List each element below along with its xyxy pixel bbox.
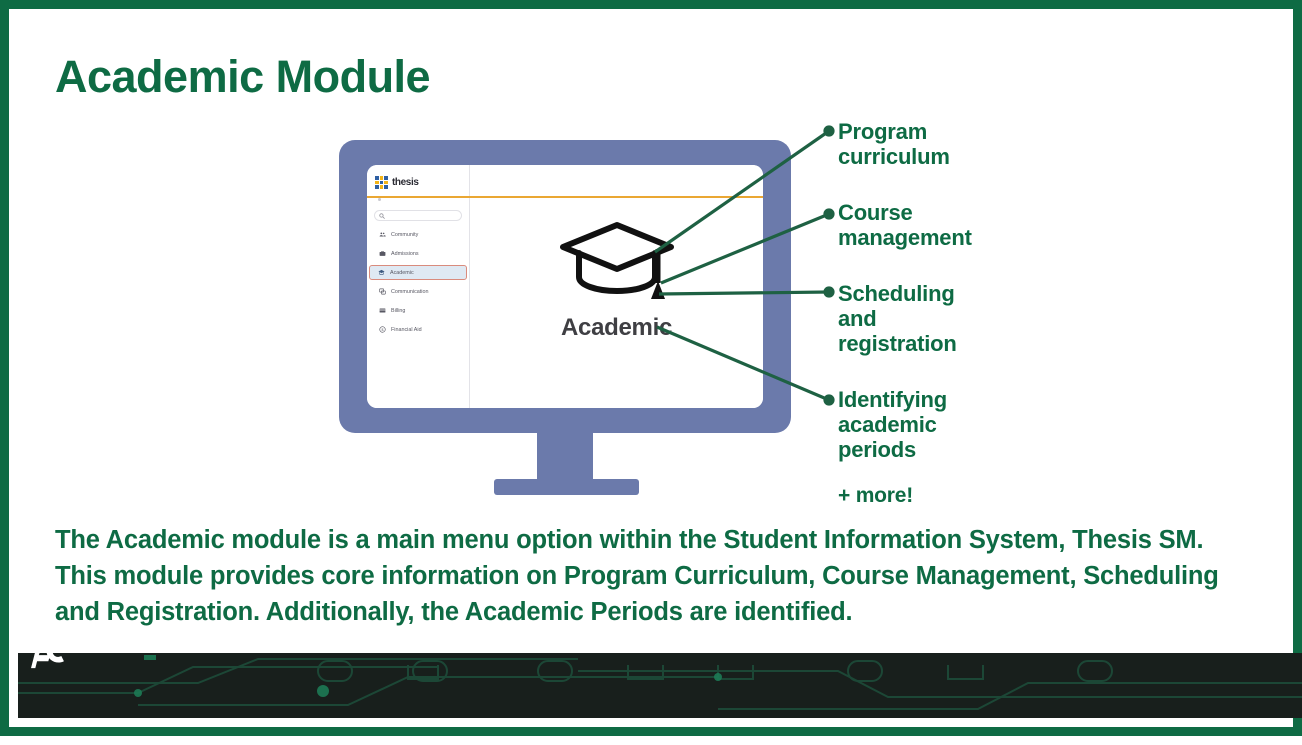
sidebar-item-label: Communication	[391, 289, 428, 295]
slide: Academic Module thesis	[0, 0, 1302, 736]
callout-line-1: Scheduling	[838, 281, 957, 306]
callout-program-curriculum: Program curriculum	[838, 119, 950, 169]
chat-icon	[379, 288, 386, 295]
card-icon	[379, 307, 386, 314]
search-input[interactable]	[374, 210, 462, 221]
monitor-neck	[537, 433, 593, 483]
sidebar-item-label: Billing	[391, 308, 405, 314]
briefcase-icon	[379, 250, 386, 257]
sidebar-item-community[interactable]: Community	[371, 227, 465, 242]
sidebar-item-financial-aid[interactable]: $ Financial Aid	[371, 322, 465, 337]
academic-hero: Academic	[555, 217, 679, 342]
academic-hero-label: Academic	[555, 314, 679, 342]
svg-text:$: $	[382, 328, 384, 332]
thesis-grid-logo-icon	[375, 176, 388, 189]
graduation-cap-icon	[378, 269, 385, 276]
people-icon	[379, 231, 386, 238]
brand-name: thesis	[392, 177, 419, 188]
callout-line-2: academic	[838, 412, 947, 437]
sidebar-item-label: Community	[391, 232, 418, 238]
search-icon	[379, 213, 385, 219]
ac-monogram-logo-icon	[18, 653, 70, 672]
thesis-app-mockup: thesis	[367, 165, 763, 408]
sidebar-item-admissions[interactable]: Admissions	[371, 246, 465, 261]
callout-course-management: Course management	[838, 200, 972, 250]
callout-line-2: management	[838, 225, 972, 250]
callout-line-2: curriculum	[838, 144, 950, 169]
callout-more: + more!	[838, 483, 913, 508]
sidebar-item-label: Financial Aid	[391, 327, 422, 333]
brand: thesis	[367, 165, 469, 191]
callout-academic-periods: Identifying academic periods	[838, 387, 947, 462]
circuit-pattern	[18, 653, 1302, 718]
monitor-base	[494, 479, 639, 495]
footer-bar	[18, 653, 1302, 718]
callout-line-1: Identifying	[838, 387, 947, 412]
graduation-cap-icon	[555, 217, 679, 305]
sidebar-item-label: Admissions	[391, 251, 419, 257]
callout-line-3: periods	[838, 437, 947, 462]
description-paragraph: The Academic module is a main menu optio…	[55, 522, 1260, 630]
sidebar-item-academic[interactable]: Academic	[369, 265, 467, 280]
callout-line-1: Program	[838, 119, 950, 144]
sidebar-item-label: Academic	[390, 270, 414, 276]
monitor-illustration: thesis	[339, 140, 791, 498]
monitor-screen: thesis	[367, 165, 763, 408]
brand-divider	[367, 196, 763, 198]
dollar-circle-icon: $	[379, 326, 386, 333]
callout-line-1: Course	[838, 200, 972, 225]
callout-scheduling: Scheduling and registration	[838, 281, 957, 356]
app-content: Academic	[470, 165, 763, 408]
sidebar-collapse-dot	[367, 191, 469, 205]
app-sidebar: thesis	[367, 165, 470, 408]
sidebar-nav: Community Admissions	[367, 227, 469, 337]
callout-line-3: registration	[838, 331, 957, 356]
page-title: Academic Module	[55, 51, 430, 103]
callout-line-2: and	[838, 306, 957, 331]
sidebar-item-billing[interactable]: Billing	[371, 303, 465, 318]
sidebar-item-communication[interactable]: Communication	[371, 284, 465, 299]
